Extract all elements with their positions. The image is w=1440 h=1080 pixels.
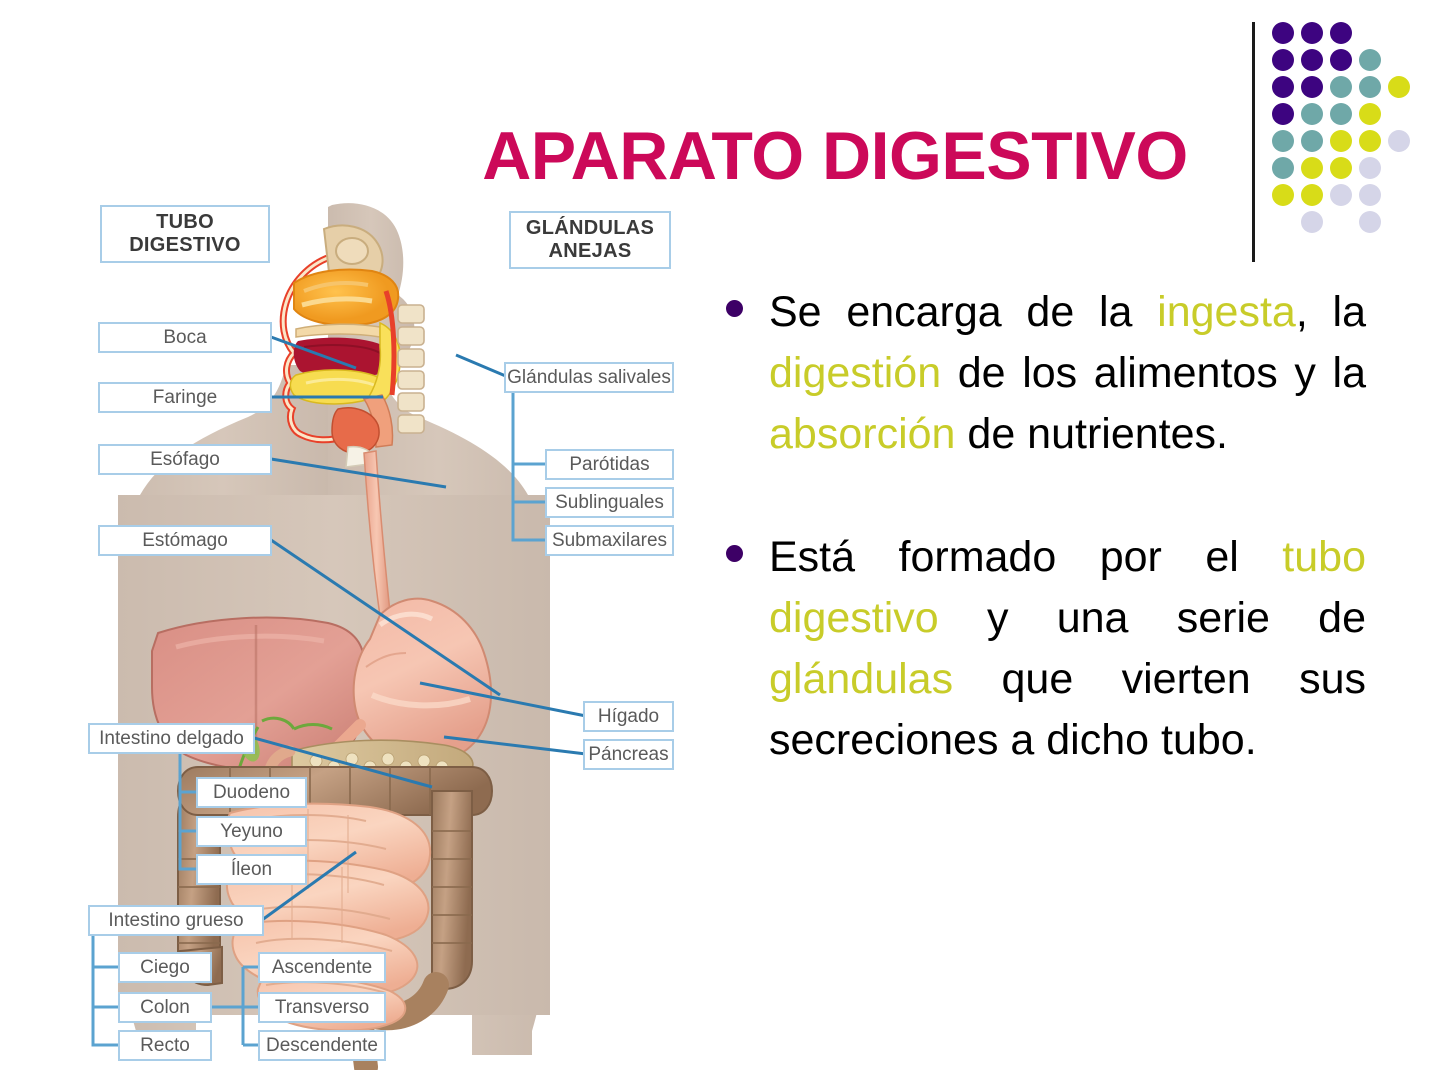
tubo-digestivo-header-line2: DIGESTIVO	[129, 234, 241, 257]
glandulas-anejas-header-line1: GLÁNDULAS	[526, 217, 654, 240]
decor-dot	[1301, 211, 1323, 233]
decor-dot	[1272, 184, 1294, 206]
decor-dot	[1272, 130, 1294, 152]
decor-dot	[1388, 130, 1410, 152]
decor-dot	[1359, 211, 1381, 233]
label-submaxilares[interactable]: Submaxilares	[545, 525, 674, 556]
decor-dot	[1388, 76, 1410, 98]
decor-dot	[1301, 130, 1323, 152]
label-colon[interactable]: Colon	[118, 992, 212, 1023]
decor-dot	[1359, 49, 1381, 71]
decor-dot	[1301, 22, 1323, 44]
decor-dot	[1301, 49, 1323, 71]
label-boca[interactable]: Boca	[98, 322, 272, 353]
decor-dot	[1301, 76, 1323, 98]
body-text-run: , la	[1296, 288, 1366, 336]
decor-dot	[1301, 157, 1323, 179]
decor-dot	[1272, 103, 1294, 125]
glandulas-anejas-header: GLÁNDULAS ANEJAS	[509, 211, 671, 269]
decor-dot	[1330, 103, 1352, 125]
highlighted-term: absorción	[769, 410, 955, 458]
label-estomago[interactable]: Estómago	[98, 525, 272, 556]
highlighted-term: ingesta	[1157, 288, 1296, 336]
decor-dot	[1301, 103, 1323, 125]
decor-dot	[1330, 157, 1352, 179]
decor-dot	[1330, 130, 1352, 152]
highlighted-term: digestión	[769, 349, 941, 397]
slide-body-text: Se encarga de la ingesta, la digestión d…	[726, 282, 1366, 833]
label-yeyuno[interactable]: Yeyuno	[196, 816, 307, 847]
body-text-run: de nutrientes.	[955, 410, 1228, 458]
bullet-item-1: Se encarga de la ingesta, la digestión d…	[726, 282, 1366, 465]
label-transverso[interactable]: Transverso	[258, 992, 386, 1023]
bullet-marker-1	[726, 300, 743, 317]
decor-dot	[1359, 76, 1381, 98]
label-parotidas[interactable]: Parótidas	[545, 449, 674, 480]
label-higado[interactable]: Hígado	[583, 701, 674, 732]
body-text-run: de los alimentos y la	[941, 349, 1366, 397]
label-glandulas-salivales[interactable]: Glándulas salivales	[504, 362, 674, 393]
label-faringe[interactable]: Faringe	[98, 382, 272, 413]
decor-dot	[1272, 49, 1294, 71]
label-esofago[interactable]: Esófago	[98, 444, 272, 475]
decor-dot	[1330, 76, 1352, 98]
decor-dot	[1272, 22, 1294, 44]
bullet-text-2: Está formado por el tubo digestivo y una…	[769, 527, 1366, 771]
label-ascendente[interactable]: Ascendente	[258, 952, 386, 983]
decor-dot	[1330, 49, 1352, 71]
decor-dot	[1359, 157, 1381, 179]
decorative-dot-grid	[1272, 22, 1422, 232]
label-descendente[interactable]: Descendente	[258, 1030, 386, 1061]
page-title: APARATO DIGESTIVO	[425, 122, 1245, 190]
body-text-run: Está formado por el	[769, 533, 1282, 581]
decor-dot	[1272, 157, 1294, 179]
glandulas-anejas-header-line2: ANEJAS	[549, 240, 632, 263]
decor-dot	[1359, 130, 1381, 152]
body-text-run: Se encarga de la	[769, 288, 1157, 336]
tubo-digestivo-header-line1: TUBO	[156, 211, 214, 234]
decor-dot	[1359, 103, 1381, 125]
label-pancreas[interactable]: Páncreas	[583, 739, 674, 770]
body-text-run: y una serie de	[939, 594, 1366, 642]
label-sublinguales[interactable]: Sublinguales	[545, 487, 674, 518]
label-recto[interactable]: Recto	[118, 1030, 212, 1061]
label-ciego[interactable]: Ciego	[118, 952, 212, 983]
label-ileon[interactable]: Íleon	[196, 854, 307, 885]
label-intestino-grueso[interactable]: Intestino grueso	[88, 905, 264, 936]
bullet-text-1: Se encarga de la ingesta, la digestión d…	[769, 282, 1366, 465]
decor-dot	[1359, 184, 1381, 206]
decor-dot	[1330, 184, 1352, 206]
tubo-digestivo-header: TUBO DIGESTIVO	[100, 205, 270, 263]
decor-dot	[1272, 76, 1294, 98]
highlighted-term: glándulas	[769, 655, 953, 703]
label-duodeno[interactable]: Duodeno	[196, 777, 307, 808]
header-vertical-divider	[1252, 22, 1255, 262]
label-intestino-delgado[interactable]: Intestino delgado	[88, 723, 255, 754]
bullet-marker-2	[726, 545, 743, 562]
bullet-item-2: Está formado por el tubo digestivo y una…	[726, 527, 1366, 771]
decor-dot	[1330, 22, 1352, 44]
decor-dot	[1301, 184, 1323, 206]
